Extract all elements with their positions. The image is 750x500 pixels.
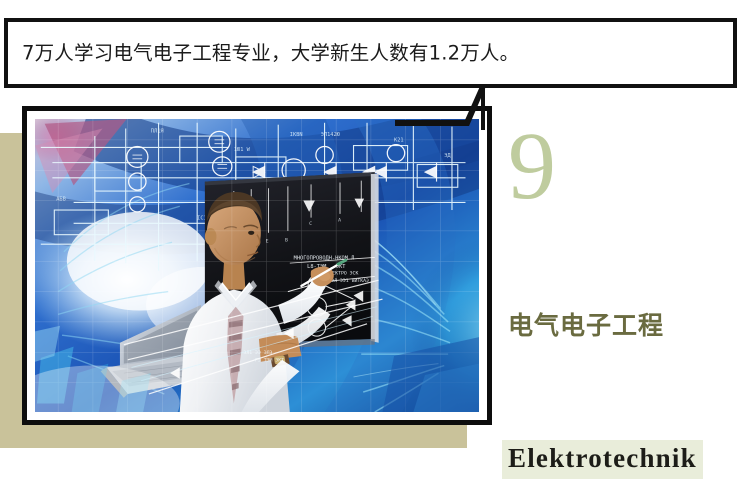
callout-text: 7万人学习电气电子工程专业，大学新生人数有1.2万人。	[22, 41, 519, 64]
svg-text:A: A	[338, 217, 341, 223]
subject-name-cn: 电气电子工程	[508, 306, 664, 342]
svg-text:К21: К21	[394, 138, 404, 144]
photo-frame: АБВ IC1Q1 ТЕМ 48 IKBN ЭЛ142Ю 1Ю1 W ПЛ1Я …	[22, 106, 492, 425]
slide-canvas: АБВ IC1Q1 ТЕМ 48 IKBN ЭЛ142Ю 1Ю1 W ПЛ1Я …	[0, 0, 750, 500]
svg-text:ЭЛ142Ю: ЭЛ142Ю	[321, 132, 340, 138]
svg-text:ГЭ ТЭМ ЭКТ: ГЭ ТЭМ ЭКТ	[255, 358, 284, 364]
svg-text:E: E	[266, 238, 269, 244]
svg-text:IKBN: IKBN	[290, 132, 303, 138]
subject-name-de: Elektrotechnik	[502, 440, 703, 479]
svg-text:ЭЛ1 ЭЭ ЭЛЭ: ЭЛ1 ЭЭ ЭЛЭ	[243, 350, 272, 356]
callout-bubble: 7万人学习电气电子工程专业，大学新生人数有1.2万人。	[4, 18, 737, 88]
svg-text:ПЛ1Я: ПЛ1Я	[151, 128, 164, 134]
photo-illustration: АБВ IC1Q1 ТЕМ 48 IKBN ЭЛ142Ю 1Ю1 W ПЛ1Я …	[35, 119, 479, 412]
svg-text:ЭД: ЭД	[444, 153, 451, 159]
svg-text:АБВ: АБВ	[56, 197, 66, 203]
callout-tail	[395, 84, 505, 130]
svg-text:ГЭЛ ЭЭ1 ВИТКАЭ: ГЭЛ ЭЭ1 ВИТКАЭ	[328, 278, 369, 284]
svg-text:C: C	[309, 221, 312, 227]
photo-image: АБВ IC1Q1 ТЕМ 48 IKBN ЭЛ142Ю 1Ю1 W ПЛ1Я …	[35, 119, 479, 412]
svg-text:1Ю1 W: 1Ю1 W	[234, 147, 251, 153]
svg-text:B: B	[285, 237, 288, 243]
rank-number: 9	[508, 118, 556, 214]
